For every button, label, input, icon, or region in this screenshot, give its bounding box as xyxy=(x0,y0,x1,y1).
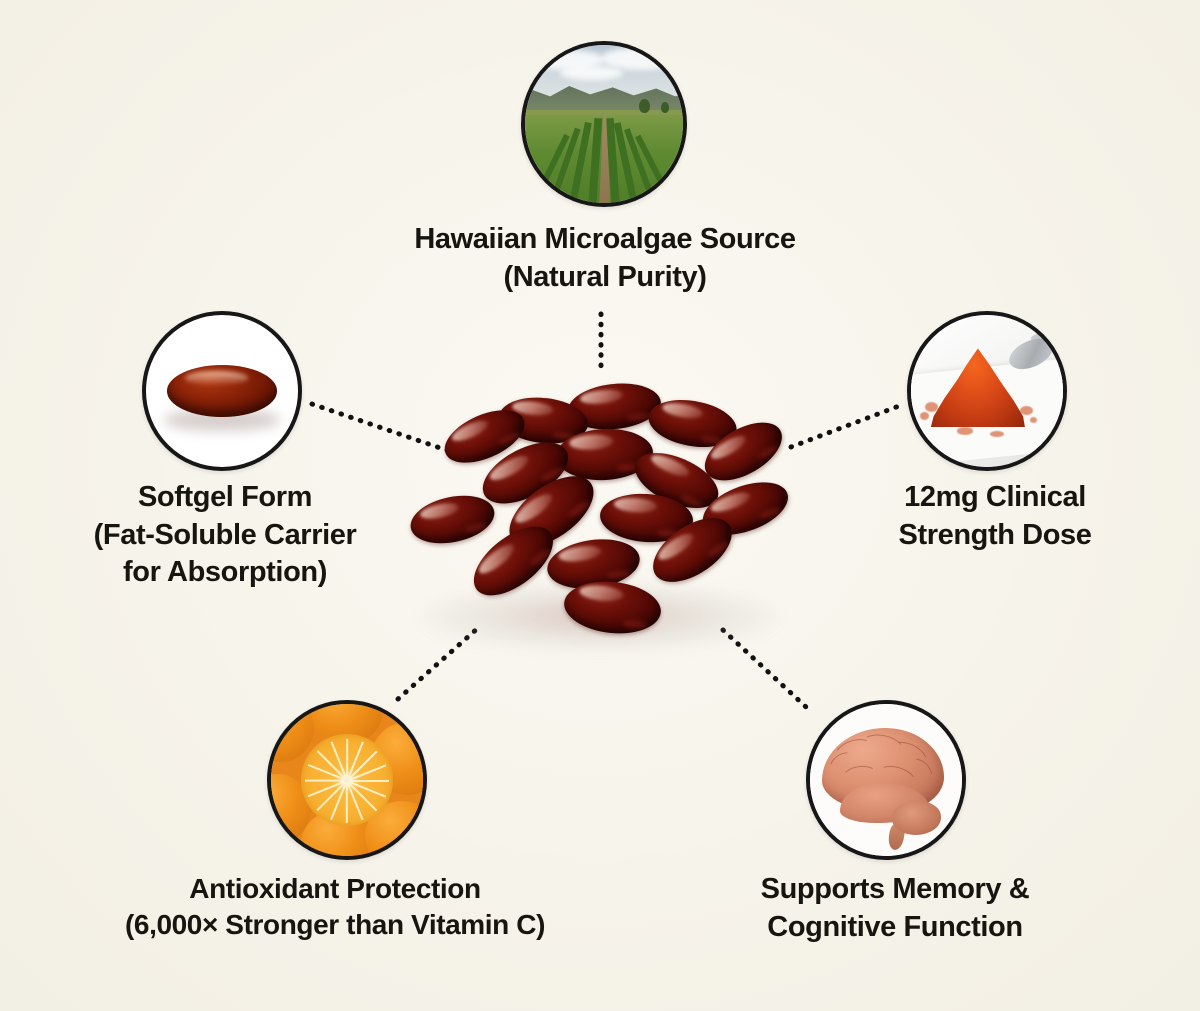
astaxanthin-softgel-pile xyxy=(398,378,802,662)
feature-caption-hawaiian-source: Hawaiian Microalgae Source (Natural Puri… xyxy=(330,221,880,296)
feature-icon-hawaiian-source[interactable] xyxy=(521,41,687,207)
orange-fruit-icon xyxy=(271,704,423,856)
softgel-capsule-icon xyxy=(146,315,298,467)
feature-icon-clinical-dose[interactable] xyxy=(907,311,1067,471)
feature-caption-clinical-dose: 12mg Clinical Strength Dose xyxy=(845,479,1145,554)
feature-icon-cognitive-support[interactable] xyxy=(806,700,966,860)
benefits-infographic: Hawaiian Microalgae Source (Natural Puri… xyxy=(0,0,1200,1011)
brain-icon xyxy=(810,704,962,856)
powder-scoop-icon xyxy=(911,315,1063,467)
feature-caption-softgel-form: Softgel Form (Fat-Soluble Carrier for Ab… xyxy=(25,479,425,592)
connector-right xyxy=(791,406,899,447)
feature-icon-antioxidant[interactable] xyxy=(267,700,427,860)
feature-caption-antioxidant: Antioxidant Protection (6,000× Stronger … xyxy=(30,871,640,944)
softgel-capsule xyxy=(406,489,498,551)
farm-field-icon xyxy=(525,45,683,203)
feature-caption-cognitive-support: Supports Memory & Cognitive Function xyxy=(710,871,1080,946)
feature-icon-softgel-form[interactable] xyxy=(142,311,302,471)
